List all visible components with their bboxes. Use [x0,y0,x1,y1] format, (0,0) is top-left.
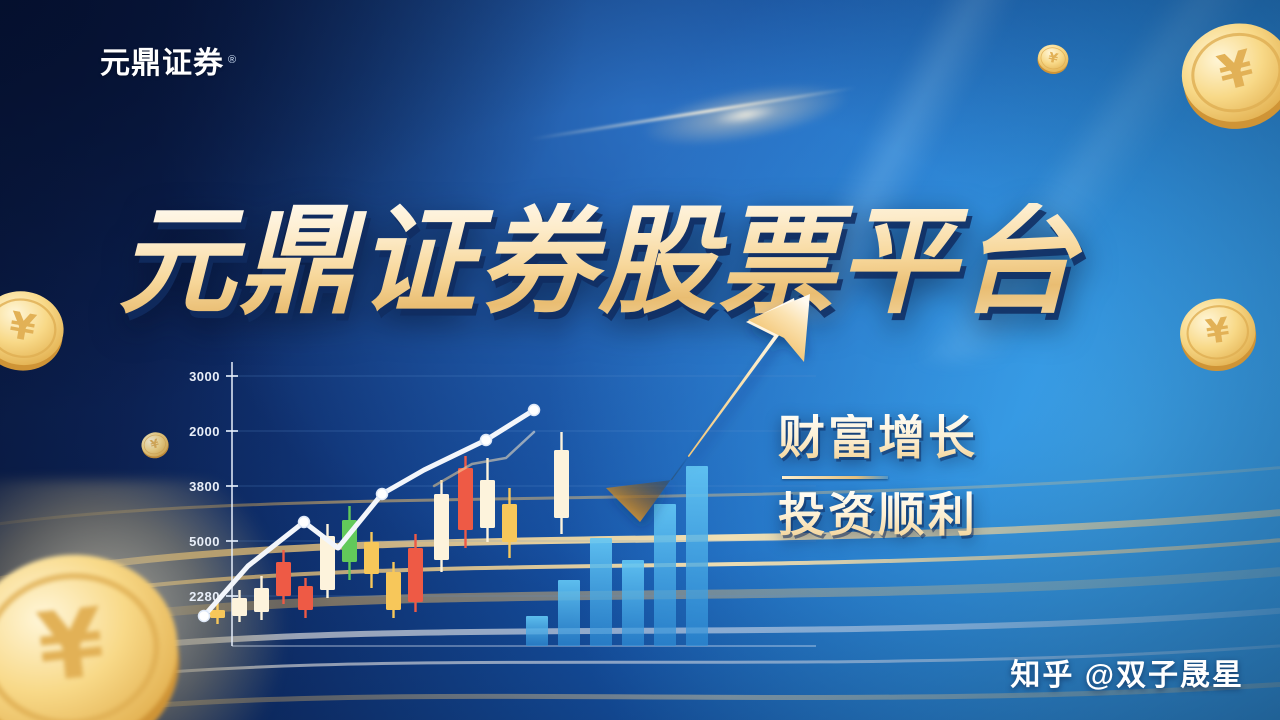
tagline-divider [782,476,888,479]
brand-logo[interactable]: 元鼎证券 ® [100,38,236,82]
svg-text:3000: 3000 [189,369,220,384]
registered-mark-icon: ® [228,54,236,66]
svg-text:3800: 3800 [189,479,220,494]
yuan-coin-icon: ¥ [1171,287,1266,382]
chart-y-tick-labels: 30002000380050002280 [189,369,220,604]
chart-candlesticks [210,432,569,624]
yuan-coin-icon: ¥ [0,277,75,384]
watermark-text: 知乎 @双子晟星 [1010,650,1244,694]
svg-text:2000: 2000 [189,424,220,439]
brand-logo-text: 元鼎证券 [100,38,224,82]
yuan-coin-icon: ¥ [0,524,202,720]
tagline-block: 财富增长 投资顺利 [778,414,978,540]
promotional-banner: 元鼎证券 ® 元鼎证券股票平台 [0,0,1280,720]
tagline-primary: 财富增长 [778,414,978,463]
svg-text:¥: ¥ [33,588,110,704]
svg-text:5000: 5000 [189,534,220,549]
yuan-coin-icon: ¥ [1033,39,1073,79]
tagline-secondary: 投资顺利 [778,491,978,540]
